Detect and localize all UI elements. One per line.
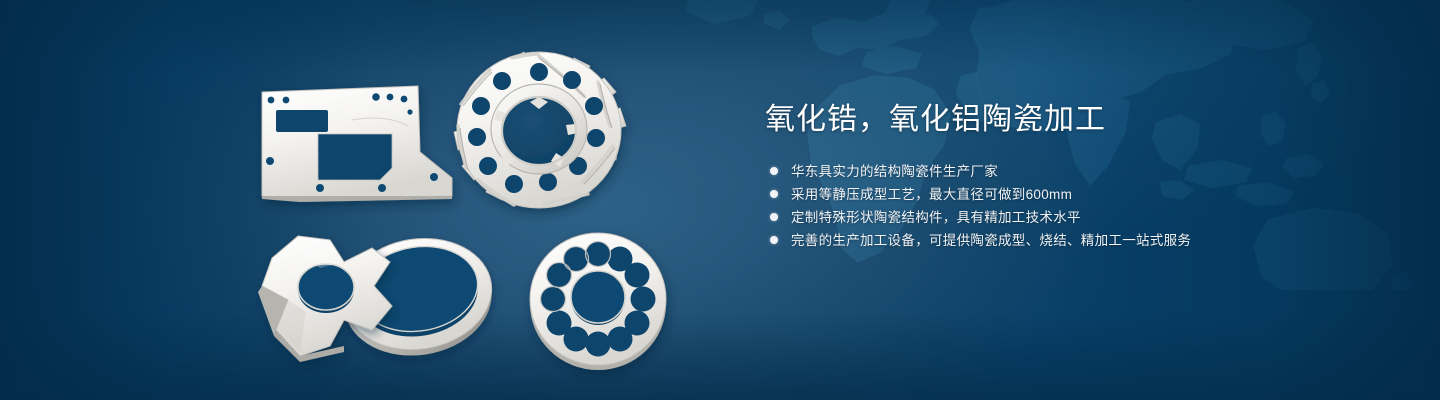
bullet-dot-icon [770, 190, 778, 198]
hero-banner: 氧化锆，氧化铝陶瓷加工 华东具实力的结构陶瓷件生产厂家 采用等静压成型工艺，最大… [0, 0, 1440, 400]
list-item: 华东具实力的结构陶瓷件生产厂家 [765, 160, 1405, 183]
feature-text: 完善的生产加工设备，可提供陶瓷成型、烧结、精加工一站式服务 [791, 229, 1191, 252]
banner-headline: 氧化锆，氧化铝陶瓷加工 [765, 104, 1405, 136]
list-item: 定制特殊形状陶瓷结构件，具有精加工技术水平 [765, 206, 1405, 229]
bullet-dot-icon [770, 236, 778, 244]
ceramic-perforated-disc [530, 233, 666, 370]
bullet-dot-icon [770, 213, 778, 221]
ceramic-impeller-rotor [454, 52, 626, 208]
ceramic-mounting-plate [262, 86, 452, 202]
banner-copy: 氧化锆，氧化铝陶瓷加工 华东具实力的结构陶瓷件生产厂家 采用等静压成型工艺，最大… [765, 104, 1405, 252]
feature-text: 采用等静压成型工艺，最大直径可做到600mm [791, 183, 1072, 206]
list-item: 完善的生产加工设备，可提供陶瓷成型、烧结、精加工一站式服务 [765, 229, 1405, 252]
list-item: 采用等静压成型工艺，最大直径可做到600mm [765, 183, 1405, 206]
feature-list: 华东具实力的结构陶瓷件生产厂家 采用等静压成型工艺，最大直径可做到600mm 定… [765, 160, 1405, 252]
product-photo-cluster [0, 0, 720, 400]
feature-text: 定制特殊形状陶瓷结构件，具有精加工技术水平 [791, 206, 1081, 229]
bullet-dot-icon [770, 167, 778, 175]
feature-text: 华东具实力的结构陶瓷件生产厂家 [791, 160, 998, 183]
